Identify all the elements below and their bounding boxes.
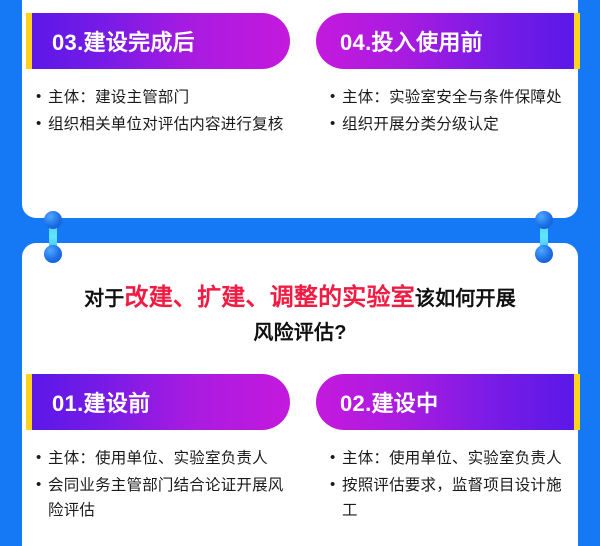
connector-right xyxy=(534,211,554,263)
card-01-pill: 01.建设前 xyxy=(32,374,290,430)
list-item: 主体：实验室安全与条件保障处 xyxy=(330,85,576,110)
accent-bar-right xyxy=(574,374,580,430)
card-02-pill: 02.建设中 xyxy=(316,374,574,430)
question-heading: 对于改建、扩建、调整的实验室该如何开展 风险评估? xyxy=(22,282,578,351)
question-trail: 该如何开展 xyxy=(415,288,516,310)
list-item: 会同业务主管部门结合论证开展风险评估 xyxy=(36,473,286,523)
question-line-2: 风险评估? xyxy=(22,317,578,351)
card-01-bullet-list: 主体：使用单位、实验室负责人 会同业务主管部门结合论证开展风险评估 xyxy=(26,430,290,523)
card-02[interactable]: 02.建设中 主体：使用单位、实验室负责人 按照评估要求，监督项目设计施工 xyxy=(316,374,580,525)
card-03-pill: 03.建设完成后 xyxy=(32,13,290,69)
card-02-title: 02.建设中 xyxy=(340,386,438,418)
card-01[interactable]: 01.建设前 主体：使用单位、实验室负责人 会同业务主管部门结合论证开展风险评估 xyxy=(26,374,290,525)
question-highlight: 改建、扩建、调整的实验室 xyxy=(125,284,415,311)
connector-cap-top-icon xyxy=(535,211,553,229)
connector-cap-bottom-icon xyxy=(535,245,553,263)
list-item: 主体：建设主管部门 xyxy=(36,85,286,110)
question-second-line: 风险评估? xyxy=(253,322,346,344)
card-02-bullet-list: 主体：使用单位、实验室负责人 按照评估要求，监督项目设计施工 xyxy=(316,430,580,523)
list-item: 主体：使用单位、实验室负责人 xyxy=(36,446,286,471)
connector-left xyxy=(43,211,63,263)
card-01-header: 01.建设前 xyxy=(26,374,290,430)
card-04-header: 04.投入使用前 xyxy=(316,13,580,69)
card-04-bullet-list: 主体：实验室安全与条件保障处 组织开展分类分级认定 xyxy=(316,69,580,137)
card-04[interactable]: 04.投入使用前 主体：实验室安全与条件保障处 组织开展分类分级认定 xyxy=(316,13,580,139)
card-03-title: 03.建设完成后 xyxy=(52,25,195,57)
card-02-header: 02.建设中 xyxy=(316,374,580,430)
list-item: 组织开展分类分级认定 xyxy=(330,112,576,137)
infographic-poster: 03.建设完成后 主体：建设主管部门 组织相关单位对评估内容进行复核 04.投入… xyxy=(0,0,600,546)
card-03[interactable]: 03.建设完成后 主体：建设主管部门 组织相关单位对评估内容进行复核 xyxy=(26,13,290,139)
card-04-pill: 04.投入使用前 xyxy=(316,13,574,69)
card-01-title: 01.建设前 xyxy=(52,386,150,418)
card-03-bullet-list: 主体：建设主管部门 组织相关单位对评估内容进行复核 xyxy=(26,69,290,137)
list-item: 按照评估要求，监督项目设计施工 xyxy=(330,473,576,523)
card-03-header: 03.建设完成后 xyxy=(26,13,290,69)
question-lead: 对于 xyxy=(84,288,124,310)
accent-bar-right xyxy=(574,13,580,69)
connector-cap-bottom-icon xyxy=(44,245,62,263)
list-item: 主体：使用单位、实验室负责人 xyxy=(330,446,576,471)
question-line-1: 对于改建、扩建、调整的实验室该如何开展 xyxy=(22,282,578,317)
connector-cap-top-icon xyxy=(44,211,62,229)
list-item: 组织相关单位对评估内容进行复核 xyxy=(36,112,286,137)
card-04-title: 04.投入使用前 xyxy=(340,25,483,57)
